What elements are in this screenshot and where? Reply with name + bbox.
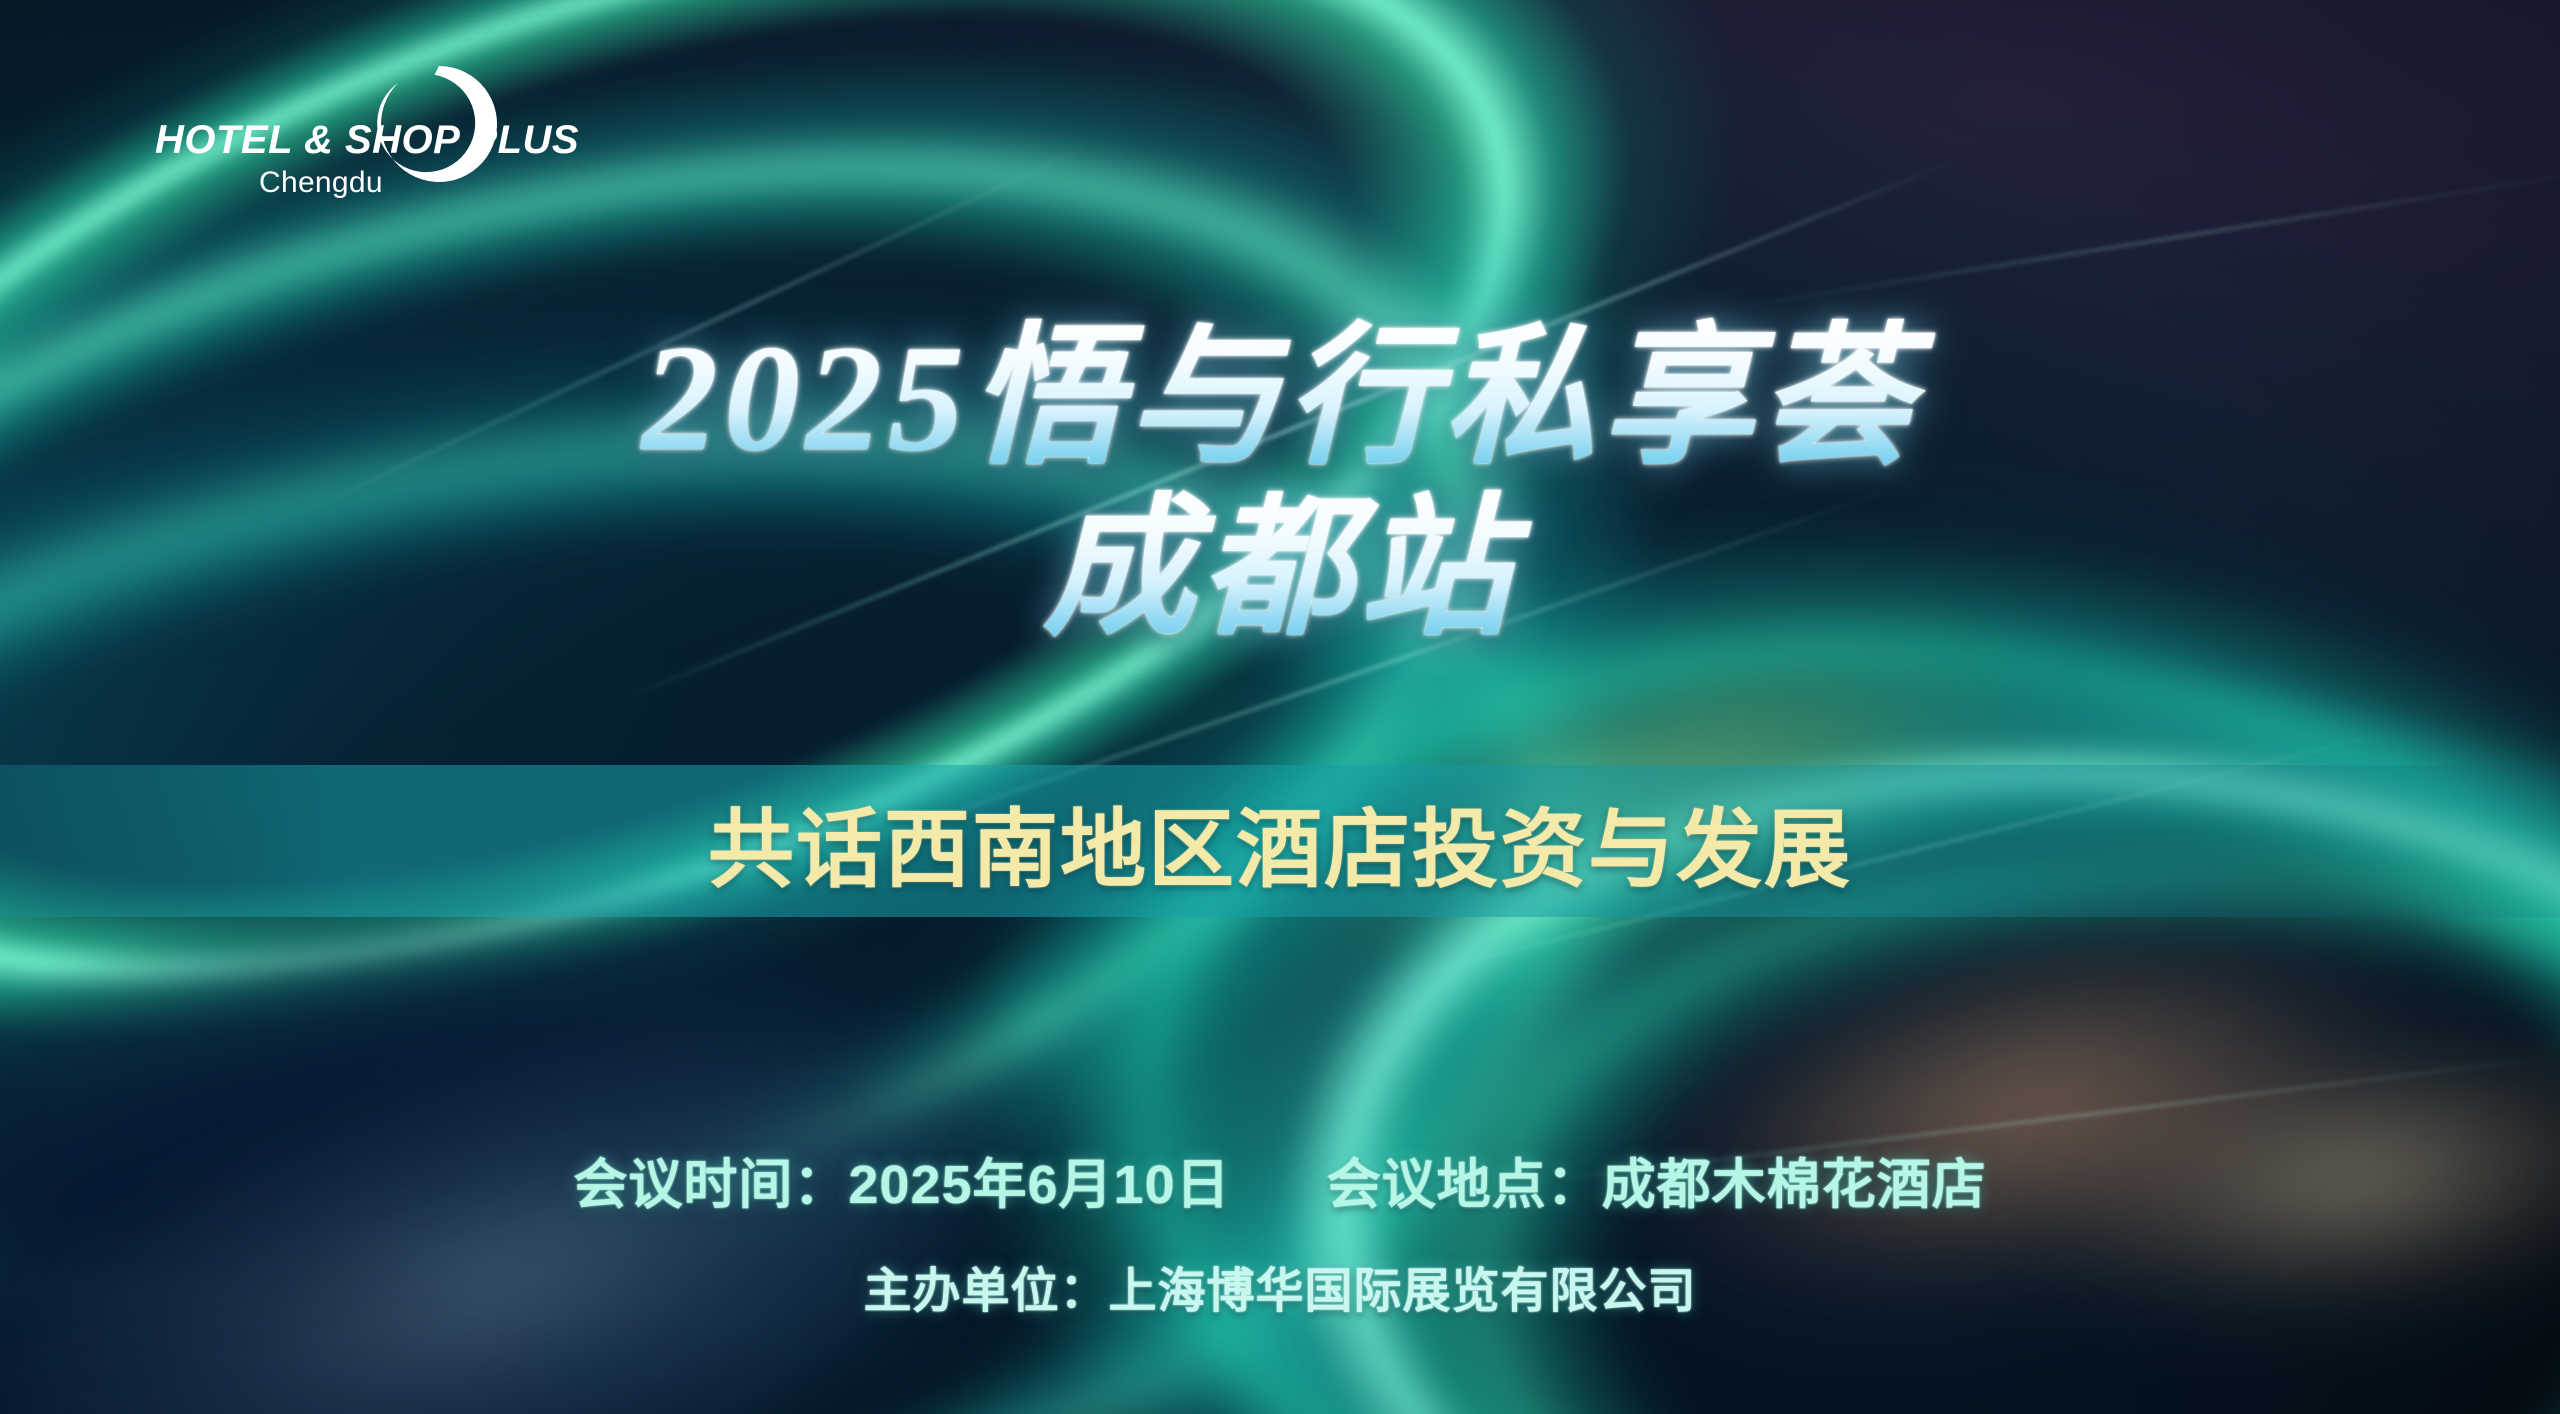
meeting-place: 会议地点：成都木棉花酒店 [1327, 1140, 1987, 1219]
light-thread [1705, 170, 2560, 314]
meeting-time: 会议时间：2025年6月10日 [573, 1140, 1230, 1219]
subtitle-band: 共话西南地区酒店投资与发展 [0, 765, 2560, 917]
logo-wordmark: HOTEL & SHOP PLUS [155, 118, 579, 163]
title-line-secondary: 成都站 [0, 489, 2560, 650]
crescent-ring-icon [375, 60, 503, 188]
poster-title: 2025悟与行私享荟 成都站 [0, 318, 2560, 650]
meeting-meta-row: 会议时间：2025年6月10日 会议地点：成都木棉花酒店 [0, 1140, 2560, 1219]
logo-city-label: Chengdu [259, 166, 383, 200]
event-poster: HOTEL & SHOP PLUS Chengdu 2025悟与行私享荟 成都站… [0, 0, 2560, 1414]
subtitle-text: 共话西南地区酒店投资与发展 [708, 779, 1852, 904]
poster-footer: 会议时间：2025年6月10日 会议地点：成都木棉花酒店 主办单位：上海博华国际… [0, 1140, 2560, 1321]
title-line-primary: 2025悟与行私享荟 [0, 318, 2560, 479]
brand-logo: HOTEL & SHOP PLUS Chengdu [155, 92, 575, 212]
organizer-line: 主办单位：上海博华国际展览有限公司 [0, 1251, 2560, 1321]
